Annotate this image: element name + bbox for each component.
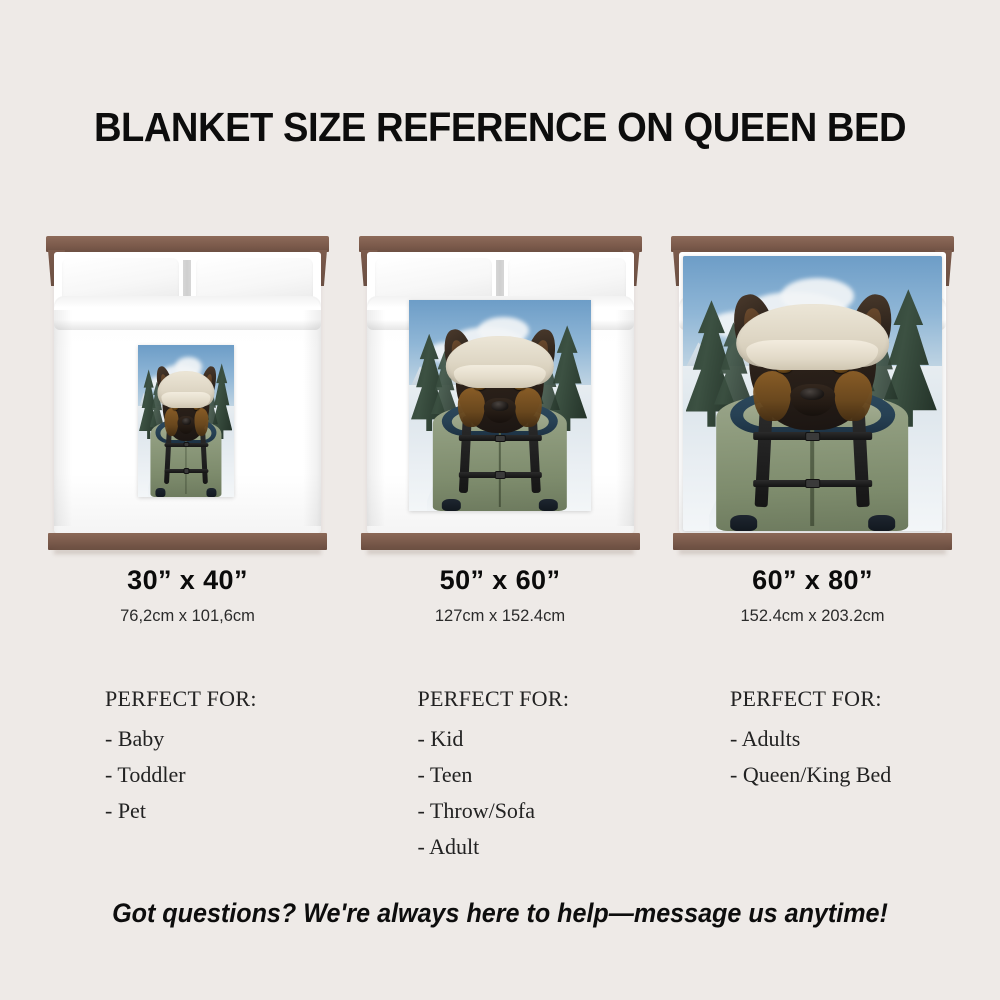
bed-illustrations-row: [40, 236, 960, 556]
bed-illustration-small: [40, 236, 335, 556]
artwork-scene: [138, 345, 234, 497]
strap-buckle: [183, 442, 189, 447]
bed-base-rail: [48, 533, 327, 550]
list-item: - Teen: [418, 757, 648, 793]
strap-buckle: [495, 435, 506, 442]
list-item: - Adult: [418, 829, 648, 865]
perfect-for-small: PERFECT FOR: - Baby - Toddler - Pet: [40, 686, 335, 865]
list-item: - Adults: [730, 721, 960, 757]
dog-paw-left: [730, 515, 757, 531]
dog-cheek-left: [164, 408, 178, 436]
dog-cheek-right: [515, 388, 542, 427]
beanie-brim: [454, 365, 546, 388]
strap-buckle: [805, 479, 820, 488]
dog-figure: [433, 325, 567, 511]
perfect-for-heading: PERFECT FOR:: [418, 686, 648, 712]
dog-paw-right: [868, 515, 895, 531]
bed-illustration-medium: [353, 236, 648, 556]
list-item: - Pet: [105, 793, 335, 829]
size-centimeters: 127cm x 152.4cm: [353, 607, 648, 626]
size-centimeters: 76,2cm x 101,6cm: [40, 607, 335, 626]
dog-paw-right: [539, 499, 558, 512]
bed-shadow: [367, 549, 634, 554]
list-item: - Queen/King Bed: [730, 757, 960, 793]
size-inches: 30” x 40”: [40, 565, 335, 596]
strap-buckle: [805, 432, 820, 441]
perfect-for-heading: PERFECT FOR:: [105, 686, 335, 712]
duvet-shadow-left: [367, 310, 393, 526]
artwork-scene: [409, 300, 591, 512]
perfect-for-row: PERFECT FOR: - Baby - Toddler - Pet PERF…: [40, 686, 960, 865]
footer-cta-text: Got questions? We're always here to help…: [35, 898, 965, 929]
strap-buckle: [495, 471, 506, 478]
size-labels-row: 30” x 40” 76,2cm x 101,6cm 50” x 60” 127…: [40, 565, 960, 626]
bed-base-rail: [673, 533, 952, 550]
beanie-brim: [162, 392, 211, 409]
mattress-and-bedding: [367, 252, 634, 534]
list-item: - Kid: [418, 721, 648, 757]
page-title: BLANKET SIZE REFERENCE ON QUEEN BED: [35, 104, 965, 151]
dog-cheek-right: [834, 371, 872, 421]
size-inches: 60” x 80”: [665, 565, 960, 596]
perfect-for-large: PERFECT FOR: - Adults - Queen/King Bed: [665, 686, 960, 865]
size-label-large: 60” x 80” 152.4cm x 203.2cm: [665, 565, 960, 626]
blanket-print-large: [683, 256, 942, 531]
dog-figure: [151, 363, 222, 497]
list-item: - Throw/Sofa: [418, 793, 648, 829]
artwork-scene: [683, 256, 942, 531]
bed-shadow: [679, 549, 946, 554]
headboard-top-rail: [359, 236, 642, 252]
bed-base-rail: [361, 533, 640, 550]
dog-nose: [800, 388, 824, 400]
dog-nose: [492, 401, 509, 410]
dog-nose: [182, 418, 191, 425]
dog-paw-right: [207, 488, 217, 497]
dog-cheek-left: [458, 388, 485, 427]
duvet-shadow-right: [608, 310, 634, 526]
headboard-top-rail: [671, 236, 954, 252]
blanket-size-reference-page: BLANKET SIZE REFERENCE ON QUEEN BED: [0, 0, 1000, 1000]
blanket-print-medium: [409, 300, 591, 512]
size-label-medium: 50” x 60” 127cm x 152.4cm: [353, 565, 648, 626]
size-label-small: 30” x 40” 76,2cm x 101,6cm: [40, 565, 335, 626]
dog-figure: [717, 289, 909, 531]
duvet-shadow-right: [295, 310, 321, 526]
dog-paw-left: [156, 488, 166, 497]
duvet-fold: [54, 296, 321, 330]
knit-beanie: [446, 336, 553, 384]
perfect-for-medium: PERFECT FOR: - Kid - Teen - Throw/Sofa -…: [353, 686, 648, 865]
knit-beanie: [158, 371, 215, 406]
headboard-top-rail: [46, 236, 329, 252]
perfect-for-heading: PERFECT FOR:: [730, 686, 960, 712]
mattress-and-bedding: [679, 252, 946, 534]
size-centimeters: 152.4cm x 203.2cm: [665, 607, 960, 626]
list-item: - Toddler: [105, 757, 335, 793]
dog-cheek-right: [194, 408, 208, 436]
bed-shadow: [54, 549, 321, 554]
list-item: - Baby: [105, 721, 335, 757]
bed-illustration-large: [665, 236, 960, 556]
duvet-shadow-left: [54, 310, 80, 526]
dog-cheek-left: [753, 371, 791, 421]
dog-paw-left: [442, 499, 461, 512]
mattress-and-bedding: [54, 252, 321, 534]
blanket-print-small: [138, 345, 234, 497]
size-inches: 50” x 60”: [353, 565, 648, 596]
beanie-brim: [747, 340, 879, 370]
